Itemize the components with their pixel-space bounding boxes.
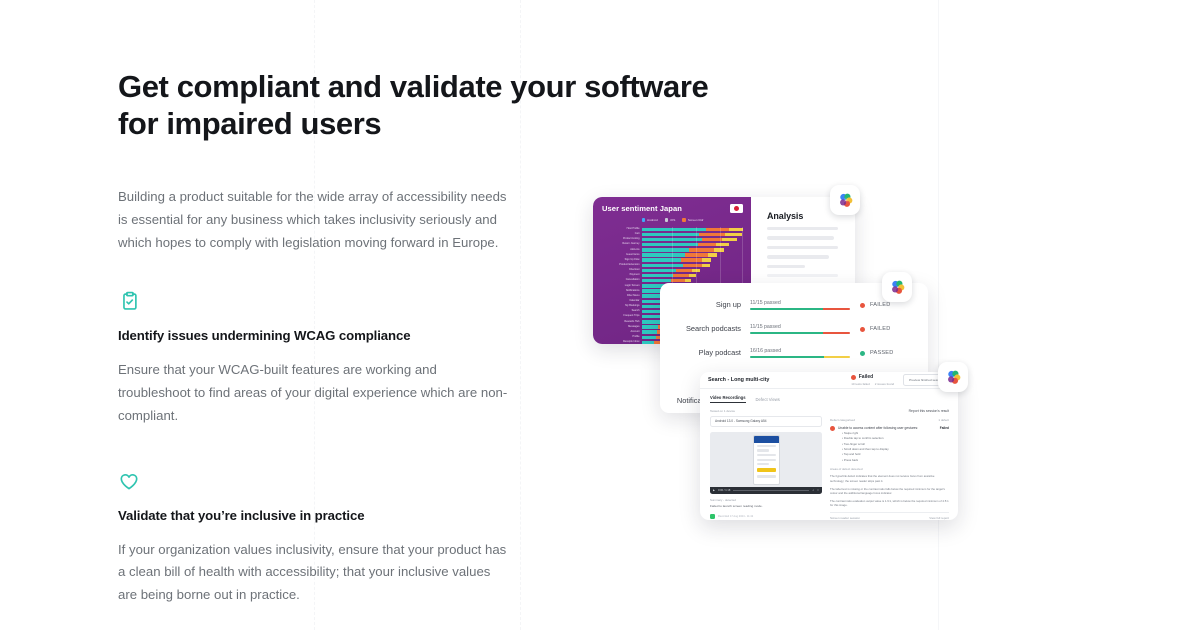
test-name: Sign up bbox=[672, 301, 750, 310]
chart-bar-stack bbox=[642, 248, 743, 251]
detail-status-label: Failed bbox=[859, 374, 873, 380]
chart-bar-stack bbox=[642, 258, 743, 261]
test-name: Play podcast bbox=[672, 349, 750, 358]
colorful-logo-badge bbox=[938, 362, 968, 392]
notes-caption: Summary - detected bbox=[710, 498, 822, 502]
progress-bar bbox=[750, 332, 850, 335]
heart-icon bbox=[118, 470, 140, 492]
progress-pass-segment bbox=[750, 308, 823, 311]
footer-meta: Recorded 17 Aug 2024 - 11:42 bbox=[718, 515, 753, 518]
chart-bar-segment bbox=[716, 243, 728, 246]
progress-remainder-segment bbox=[823, 332, 850, 335]
notes-text: Failed to launch screen reading mode. bbox=[710, 504, 822, 508]
page-title: Get compliant and validate your software… bbox=[118, 68, 718, 142]
skeleton-line bbox=[767, 236, 834, 239]
footer-caption: Screen reader session bbox=[830, 516, 860, 520]
feature-title-compliance: Identify issues undermining WCAG complia… bbox=[118, 328, 510, 343]
chart-bar-label: Messages bbox=[602, 325, 642, 330]
test-progress: 16/16 passed bbox=[750, 348, 860, 359]
test-progress: 11/15 passed bbox=[750, 324, 860, 335]
chart-bar-label: Host Profile bbox=[602, 227, 642, 232]
chart-bar-stack bbox=[642, 279, 743, 282]
detail-header: Search - Long multi-city Failed 10 tests… bbox=[700, 372, 958, 389]
test-name: Search podcasts bbox=[672, 325, 750, 334]
detail-status-block: Failed 10 tests failed 2 issues found bbox=[851, 374, 894, 386]
legend-swatch bbox=[642, 218, 646, 222]
logo-petals-icon bbox=[944, 368, 963, 387]
chart-bar-label: Calendar bbox=[602, 299, 642, 304]
clipboard-check-icon bbox=[118, 290, 140, 312]
chart-bar-label: Sign Up Flow bbox=[602, 258, 642, 263]
chart-bar-stack bbox=[642, 238, 743, 241]
chart-bar-stack bbox=[642, 228, 743, 231]
chart-bar-segment bbox=[671, 279, 685, 282]
chart-bar-segment bbox=[725, 233, 741, 236]
device-caption: Tested on 1 device bbox=[710, 409, 822, 413]
chart-bar-segment bbox=[685, 279, 691, 282]
defect-title: Unable to access content after following… bbox=[838, 426, 918, 430]
chart-bar-segment bbox=[683, 264, 702, 267]
status-dot bbox=[860, 351, 865, 356]
chart-bar-segment bbox=[642, 243, 698, 246]
marketing-hero-page: Get compliant and validate your software… bbox=[0, 0, 1200, 630]
defect-subheader-right: 1 defect bbox=[938, 418, 949, 422]
video-controls[interactable]: ▶ 0:00 / 1:18 ♫ ⛶ bbox=[710, 487, 822, 494]
video-timestamp: 0:00 / 1:18 bbox=[718, 489, 730, 492]
status-badge: FAILED bbox=[860, 302, 918, 308]
legend-item: iOS bbox=[665, 218, 676, 222]
phone-line bbox=[757, 449, 770, 451]
fullscreen-icon[interactable]: ⛶ bbox=[817, 489, 819, 492]
progress-remainder-segment bbox=[824, 356, 850, 359]
chart-bar-label: Add-ons bbox=[602, 248, 642, 253]
legend-label: iOS bbox=[670, 218, 675, 222]
chart-bar-label: Checkout bbox=[602, 268, 642, 273]
chart-bar-stack bbox=[642, 243, 743, 246]
skeleton-line bbox=[767, 274, 838, 277]
chart-bar-label: Account bbox=[602, 330, 642, 335]
chart-bar-segment bbox=[642, 233, 699, 236]
detail-left-column: Tested on 1 device Android 13.0 - Samsun… bbox=[710, 409, 822, 520]
chart-bar-segment bbox=[729, 228, 743, 231]
defect-footer: Screen reader session View full report bbox=[830, 516, 949, 520]
tab-defect-views[interactable]: Defect Views bbox=[756, 395, 780, 403]
sentiment-card-header: User sentiment Japan bbox=[602, 204, 743, 213]
play-icon[interactable]: ▶ bbox=[713, 489, 715, 492]
colorful-logo-badge bbox=[830, 185, 860, 215]
chart-bar-label: Payment bbox=[602, 273, 642, 278]
feature-body-compliance: Ensure that your WCAG-built features are… bbox=[118, 359, 508, 427]
logo-petals-icon bbox=[888, 278, 907, 297]
legend-label: Android bbox=[647, 218, 658, 222]
detail-header-right: Failed 10 tests failed 2 issues found Pr… bbox=[851, 374, 949, 386]
chart-bar-segment bbox=[702, 258, 711, 261]
video-scrubber[interactable] bbox=[733, 490, 809, 491]
chart-bar-segment bbox=[681, 258, 702, 261]
defect-step-item: • Scroll down and then tap to display bbox=[838, 447, 949, 451]
table-row[interactable]: Search podcasts11/15 passedFAILED bbox=[672, 317, 918, 341]
chart-bar-label: My Bookings bbox=[602, 304, 642, 309]
chart-bar-label: Rewards Hub bbox=[602, 320, 642, 325]
chart-bar-stack bbox=[642, 233, 743, 236]
defect-subheader: Defect categorised 1 defect bbox=[830, 418, 949, 422]
chart-bar-segment bbox=[689, 248, 714, 251]
status-badge: FAILED bbox=[860, 326, 918, 332]
defect-entry: Unable to access content after following… bbox=[830, 426, 949, 462]
chart-bar-segment bbox=[642, 341, 654, 344]
chart-bar-segment bbox=[708, 253, 717, 256]
chart-bar-stack bbox=[642, 274, 743, 277]
logo-petals-icon bbox=[836, 191, 855, 210]
chart-bar-segment bbox=[642, 320, 661, 323]
defect-step-item: • Two-finger scroll bbox=[838, 442, 949, 446]
phone-line bbox=[757, 445, 776, 447]
chart-bar-label: Search bbox=[602, 309, 642, 314]
chart-bar-segment bbox=[702, 264, 710, 267]
japan-flag-icon bbox=[730, 204, 743, 213]
skeleton-line bbox=[767, 255, 829, 258]
chart-bar-segment bbox=[642, 315, 662, 318]
skeleton-line bbox=[767, 265, 805, 268]
status-label: FAILED bbox=[870, 326, 890, 332]
defect-step-item: • Swipe right bbox=[838, 431, 949, 435]
phone-line bbox=[757, 454, 776, 456]
session-detail-card: Search - Long multi-city Failed 10 tests… bbox=[700, 372, 958, 520]
chart-bar-segment bbox=[706, 228, 729, 231]
feature-block-compliance: Identify issues undermining WCAG complia… bbox=[118, 290, 510, 427]
chart-bar-segment bbox=[642, 274, 673, 277]
defect-subheader-left: Defect categorised bbox=[830, 418, 855, 422]
section-caption: Areas of defect detected bbox=[830, 467, 949, 471]
chart-bar-label: Return Journey bbox=[602, 242, 642, 247]
chart-bar-segment bbox=[642, 248, 689, 251]
phone-mockup bbox=[753, 435, 780, 485]
chart-bar-segment bbox=[722, 238, 736, 241]
status-dot-failed bbox=[851, 375, 856, 380]
chart-bar-label: Product Extension bbox=[602, 263, 642, 268]
chart-bar-label: Cancellation bbox=[602, 278, 642, 283]
volume-icon[interactable]: ♫ bbox=[812, 489, 814, 492]
phone-header-bar bbox=[754, 436, 779, 443]
legend-label: Screen Rdr bbox=[688, 218, 704, 222]
chart-bar-stack bbox=[642, 253, 743, 256]
defect-paragraph: The hyperlink defect indicates that the … bbox=[830, 474, 949, 483]
chart-bar-label: Receipts Inbox bbox=[602, 340, 642, 344]
chart-bar-segment bbox=[642, 325, 658, 328]
defect-paragraph: The contrast ratio evaluation output val… bbox=[830, 499, 949, 508]
intro-paragraph: Building a product suitable for the wide… bbox=[118, 186, 508, 254]
chart-bar-label: Profile bbox=[602, 335, 642, 340]
avatar bbox=[710, 514, 715, 519]
report-result-link[interactable]: Report this session's result bbox=[909, 409, 949, 413]
test-pass-count: 11/15 passed bbox=[750, 324, 850, 330]
defect-step-item: • Tap and hold bbox=[838, 452, 949, 456]
chart-bar-stack bbox=[642, 264, 743, 267]
chart-legend: AndroidiOSScreen Rdr bbox=[602, 218, 743, 222]
legend-swatch bbox=[665, 218, 669, 222]
test-progress: 11/15 passed bbox=[750, 300, 860, 311]
content-column: Get compliant and validate your software… bbox=[118, 68, 510, 607]
table-row[interactable]: Play podcast16/16 passedPASSED bbox=[672, 341, 918, 365]
detail-right-column: Report this session's result Defect cate… bbox=[830, 409, 949, 520]
defect-step-item: • Double tap to confirm selection bbox=[838, 436, 949, 440]
test-pass-count: 11/15 passed bbox=[750, 300, 850, 306]
detail-body: Tested on 1 device Android 13.0 - Samsun… bbox=[700, 403, 958, 520]
divider bbox=[830, 512, 949, 513]
progress-bar bbox=[750, 308, 850, 311]
chart-bar-segment bbox=[689, 274, 695, 277]
colorful-logo-badge bbox=[882, 272, 912, 302]
chart-bar-segment bbox=[642, 253, 685, 256]
test-pass-count: 16/16 passed bbox=[750, 348, 850, 354]
detail-meta-item: 2 issues found bbox=[875, 382, 894, 386]
detail-footer-row: Recorded 17 Aug 2024 - 11:42 bbox=[710, 514, 822, 519]
detail-title: Search - Long multi-city bbox=[708, 377, 769, 383]
chart-bar-label: Notifications bbox=[602, 289, 642, 294]
phone-cta-button bbox=[757, 468, 776, 472]
chart-bar-segment bbox=[642, 269, 676, 272]
status-dot bbox=[860, 327, 865, 332]
chart-bar-segment bbox=[642, 264, 683, 267]
skeleton-line bbox=[767, 246, 838, 249]
chart-bar-segment bbox=[642, 279, 671, 282]
device-selector[interactable]: Android 13.0 - Samsung Galaxy A54 bbox=[710, 416, 822, 427]
phone-line bbox=[757, 463, 770, 465]
chart-bar-label: Filter Menu bbox=[602, 294, 642, 299]
status-label: PASSED bbox=[870, 350, 893, 356]
session-video-player[interactable]: ▶ 0:00 / 1:18 ♫ ⛶ bbox=[710, 432, 822, 494]
chart-bar-segment bbox=[642, 336, 656, 339]
detail-meta: 10 tests failed 2 issues found bbox=[851, 382, 894, 386]
phone-line bbox=[757, 475, 776, 477]
sentiment-card-title: User sentiment Japan bbox=[602, 204, 682, 213]
chart-bar-segment bbox=[642, 258, 681, 261]
chart-bar-segment bbox=[699, 233, 726, 236]
defect-step-item: • Press back bbox=[838, 458, 949, 462]
progress-remainder-segment bbox=[823, 308, 850, 311]
chart-bar-label: Login Screen bbox=[602, 284, 642, 289]
chart-bar-segment bbox=[673, 274, 689, 277]
feature-title-inclusive: Validate that you’re inclusive in practi… bbox=[118, 508, 510, 523]
legend-item: Screen Rdr bbox=[682, 218, 703, 222]
view-report-link[interactable]: View full report bbox=[929, 516, 949, 520]
status-dot bbox=[860, 303, 865, 308]
tab-video-recordings[interactable]: Video Recordings bbox=[710, 395, 746, 403]
status-badge: PASSED bbox=[860, 350, 918, 356]
analysis-title: Analysis bbox=[767, 211, 841, 221]
chart-bar-segment bbox=[642, 330, 657, 333]
chart-bar-label: Cart bbox=[602, 232, 642, 237]
feature-body-inclusive: If your organization values inclusivity,… bbox=[118, 539, 508, 607]
phone-line bbox=[757, 459, 776, 461]
progress-pass-segment bbox=[750, 332, 823, 335]
product-screenshot-stack: User sentiment Japan AndroidiOSScreen Rd… bbox=[560, 150, 1200, 570]
skeleton-line bbox=[767, 227, 838, 230]
detail-tabs: Video Recordings Defect Views bbox=[700, 389, 958, 403]
feature-block-inclusive: Validate that you’re inclusive in practi… bbox=[118, 470, 510, 607]
progress-pass-segment bbox=[750, 356, 824, 359]
chart-bar-segment bbox=[676, 269, 692, 272]
chart-bar-label: Frequent Trips bbox=[602, 314, 642, 319]
status-label: FAILED bbox=[870, 302, 890, 308]
defect-step-list: • Swipe right• Double tap to confirm sel… bbox=[838, 431, 949, 462]
defect-paragraph: The label text is missing or the contras… bbox=[830, 487, 949, 496]
defect-status: Failed bbox=[940, 426, 949, 430]
detail-meta-item: 10 tests failed bbox=[851, 382, 870, 386]
table-row[interactable]: Sign up11/15 passedFAILED bbox=[672, 293, 918, 317]
defect-severity-dot bbox=[830, 426, 835, 431]
chart-bar-label: Guest Items bbox=[602, 253, 642, 258]
progress-bar bbox=[750, 356, 850, 359]
legend-item: Android bbox=[642, 218, 658, 222]
chart-bar-segment bbox=[698, 243, 717, 246]
legend-swatch bbox=[682, 218, 686, 222]
chart-bar-stack bbox=[642, 269, 743, 272]
chart-bar-label: Product Listing bbox=[602, 237, 642, 242]
